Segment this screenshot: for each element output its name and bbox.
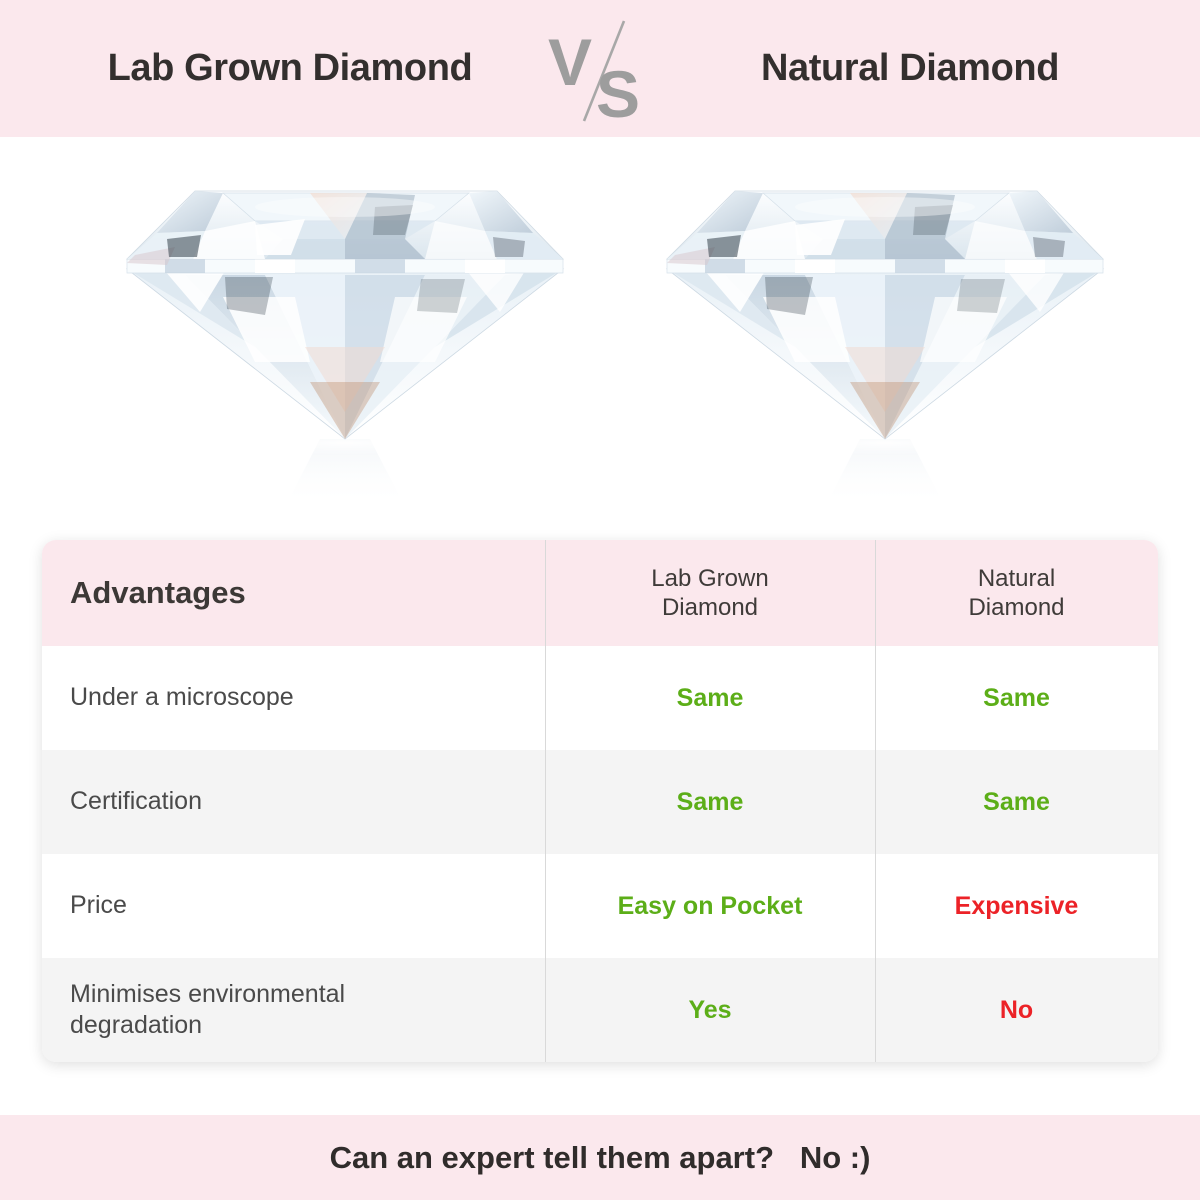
row-value-natural: Expensive	[875, 891, 1158, 922]
table-header-natural-line1: Natural	[875, 564, 1158, 593]
header-title-natural: Natural Diamond	[660, 47, 1160, 90]
natural-diamond-image	[645, 147, 1125, 517]
column-divider-1	[545, 958, 546, 1062]
row-value-natural: No	[875, 995, 1158, 1026]
table-header-row: Advantages Lab Grown Diamond Natural Dia…	[42, 540, 1158, 646]
table-header-natural-line2: Diamond	[875, 593, 1158, 622]
column-divider-2	[875, 646, 876, 750]
table-header-advantages: Advantages	[42, 573, 545, 612]
svg-text:V: V	[548, 25, 592, 99]
table-header-lab-grown-line1: Lab Grown	[545, 564, 875, 593]
header-title-lab-grown: Lab Grown Diamond	[40, 47, 540, 90]
row-value-lab-grown: Same	[545, 787, 875, 818]
row-label: Under a microscope	[42, 682, 545, 714]
row-label: Minimises environmental degradation	[42, 979, 545, 1042]
column-divider-2	[875, 750, 876, 854]
column-divider-2	[875, 958, 876, 1062]
table-row: Price Easy on Pocket Expensive	[42, 854, 1158, 958]
column-divider-2	[875, 540, 876, 646]
row-label: Certification	[42, 786, 545, 818]
table-row: Certification Same Same	[42, 750, 1158, 854]
column-divider-1	[545, 750, 546, 854]
table-row: Under a microscope Same Same	[42, 646, 1158, 750]
row-label-line1: Minimises environmental	[70, 979, 545, 1011]
row-value-lab-grown: Same	[545, 683, 875, 714]
row-value-natural: Same	[875, 683, 1158, 714]
table-header-lab-grown-line2: Diamond	[545, 593, 875, 622]
footer-band: Can an expert tell them apart? No :)	[0, 1115, 1200, 1200]
column-divider-1	[545, 854, 546, 958]
row-label-line2: degradation	[70, 1010, 545, 1042]
header-band: Lab Grown Diamond V S Natural Diamond	[0, 0, 1200, 137]
column-divider-1	[545, 540, 546, 646]
diamond-stage	[0, 137, 1200, 527]
row-value-lab-grown: Yes	[545, 995, 875, 1026]
row-label: Price	[42, 890, 545, 922]
column-divider-1	[545, 646, 546, 750]
comparison-table: Advantages Lab Grown Diamond Natural Dia…	[42, 540, 1158, 1062]
table-row: Minimises environmental degradation Yes …	[42, 958, 1158, 1062]
table-header-lab-grown: Lab Grown Diamond	[545, 564, 875, 623]
lab-grown-diamond-image	[105, 147, 585, 517]
svg-text:S: S	[596, 57, 640, 129]
column-divider-2	[875, 854, 876, 958]
infographic-page: Lab Grown Diamond V S Natural Diamond	[0, 0, 1200, 1200]
vs-badge: V S	[540, 9, 660, 129]
row-value-lab-grown: Easy on Pocket	[545, 891, 875, 922]
footer-question-answer: Can an expert tell them apart? No :)	[330, 1140, 871, 1176]
row-value-natural: Same	[875, 787, 1158, 818]
table-header-natural: Natural Diamond	[875, 564, 1158, 623]
